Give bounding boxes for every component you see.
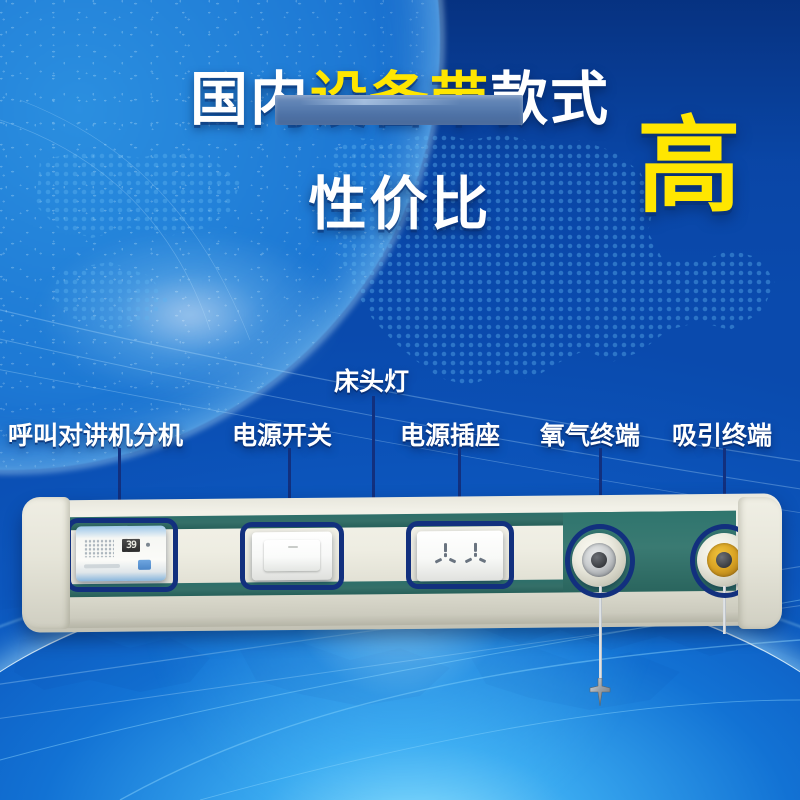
bed-lamp-highlight <box>300 99 460 105</box>
panel-end-cap-left <box>22 497 70 629</box>
callout-power-socket: 电源插座 <box>400 416 500 452</box>
highlight-marker-oxygen <box>565 524 635 598</box>
pull-cord-cross-handle-icon[interactable] <box>586 678 614 706</box>
callout-bed-lamp: 床头灯 <box>334 362 409 398</box>
highlight-marker-intercom <box>66 518 178 592</box>
panel-bottom-lip <box>62 612 742 629</box>
callout-oxygen-terminal: 氧气终端 <box>540 416 640 452</box>
panel-end-cap-right <box>738 497 782 629</box>
poster-canvas: 国内设备带款式 性价比 高 呼叫对讲机分机 电源开关 床头灯 电源插座 氧气终端… <box>0 0 800 800</box>
highlight-marker-power-switch <box>240 522 344 590</box>
callout-suction-terminal: 吸引终端 <box>672 416 772 452</box>
highlight-marker-power-socket <box>406 521 514 589</box>
callout-power-switch: 电源开关 <box>232 416 332 452</box>
callout-intercom: 呼叫对讲机分机 <box>8 416 183 452</box>
pull-cord-oxygen[interactable] <box>599 586 602 684</box>
